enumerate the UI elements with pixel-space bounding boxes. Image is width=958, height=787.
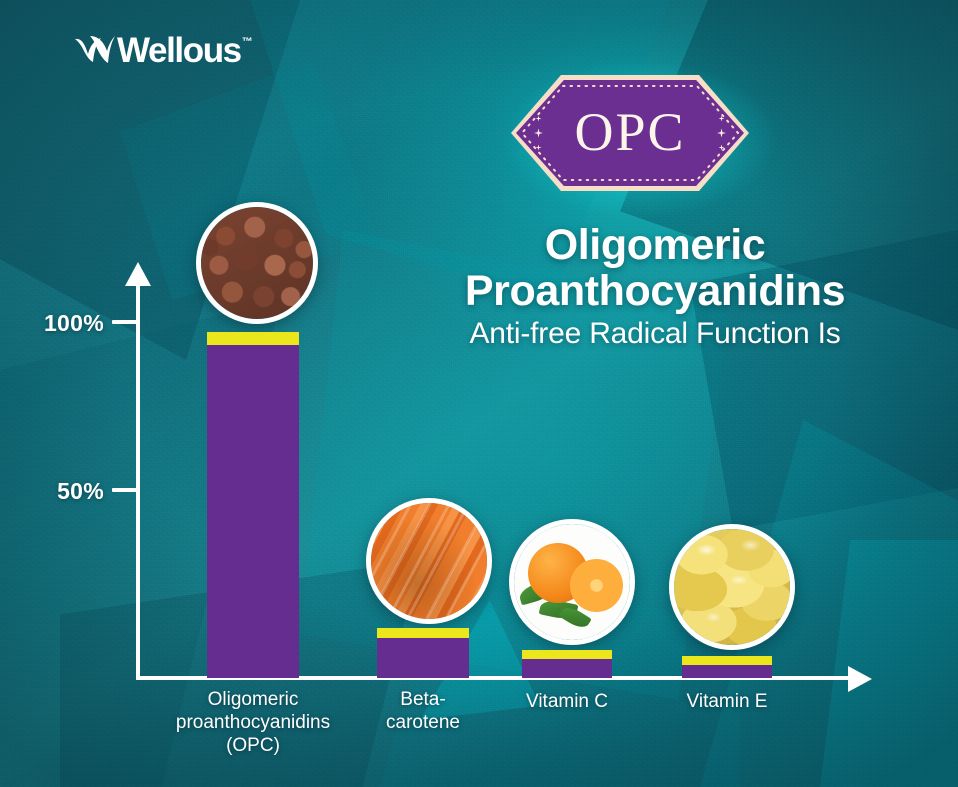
bar-cap [682,656,772,665]
category-label-vitamin-e: Vitamin E [664,690,790,713]
bar-cap [207,332,299,345]
category-label-line: Vitamin E [664,690,790,713]
y-tick-100 [112,320,138,324]
category-label-line: (OPC) [150,734,356,757]
y-tick-label-100: 100% [20,310,104,337]
oranges-photo [509,519,635,645]
y-axis-line [136,280,140,680]
category-label-line: Vitamin C [504,690,630,713]
category-label-beta-carotene: Beta- carotene [360,688,486,734]
bar-chart: 100% 50% Oligomeric proanthocyanidins (O… [0,0,958,787]
bar-vitamin-e [682,656,772,678]
bar-cap [377,628,469,638]
grape-seeds-photo [196,202,318,324]
vitamin-e-capsules-photo [669,524,795,650]
arrow-right-icon [848,666,872,692]
category-label-line: proanthocyanidins [150,711,356,734]
y-tick-label-50: 50% [20,478,104,505]
category-label-line: Beta- [360,688,486,711]
arrow-up-icon [125,262,151,286]
y-tick-50 [112,488,138,492]
bar-opc [207,332,299,678]
bar-vitamin-c [522,650,612,678]
infographic-canvas: Wellous ™ OPC Oligomeric Proan [0,0,958,787]
category-label-line: Oligomeric [150,688,356,711]
carrots-photo [366,498,492,624]
bar-beta-carotene [377,628,469,678]
category-label-opc: Oligomeric proanthocyanidins (OPC) [150,688,356,757]
bar-cap [522,650,612,659]
category-label-line: carotene [360,711,486,734]
bar-body [207,332,299,678]
category-label-vitamin-c: Vitamin C [504,690,630,713]
